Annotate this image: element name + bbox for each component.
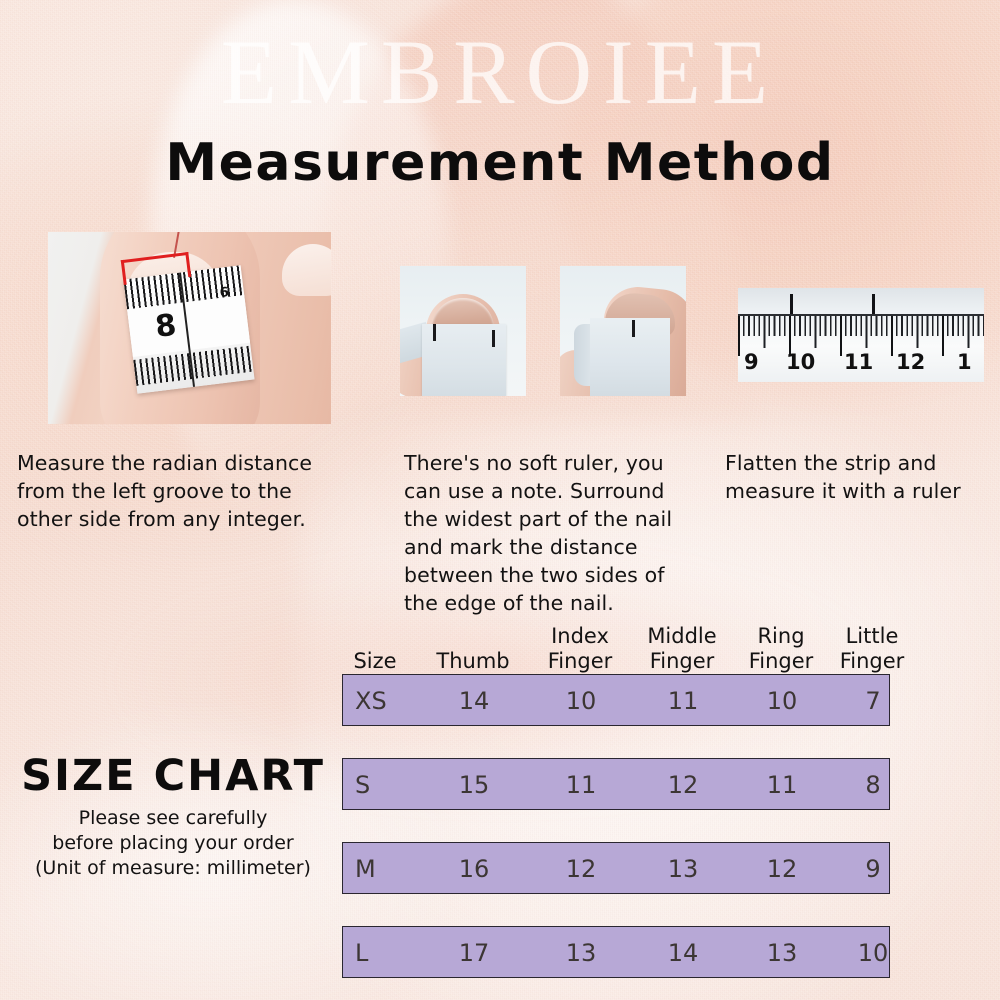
table-header-thumb: Thumb bbox=[418, 649, 528, 674]
table-cell-little: 9 bbox=[825, 843, 921, 895]
table-cell-size: M bbox=[343, 843, 421, 895]
instruction-radian-distance: Measure the radian distance from the lef… bbox=[17, 449, 397, 533]
table-header-ring: Ring Finger bbox=[734, 624, 828, 674]
ruler-label-13: 1 bbox=[957, 350, 972, 374]
table-header-index: Index Finger bbox=[532, 624, 628, 674]
tape-number: 8 bbox=[153, 308, 178, 345]
strip-mark bbox=[632, 320, 635, 337]
table-cell-middle: 14 bbox=[633, 927, 733, 979]
table-cell-ring: 13 bbox=[735, 927, 829, 979]
table-header-middle: Middle Finger bbox=[632, 624, 732, 674]
paper-strip bbox=[590, 318, 670, 396]
photo-ruler-measuring-strip: 9 10 11 12 1 bbox=[738, 288, 984, 382]
page-title: Measurement Method bbox=[0, 137, 1000, 189]
photo-nail-with-paper-strip-front bbox=[400, 266, 526, 396]
strip-mark-right bbox=[492, 330, 495, 347]
table-row: L1713141310 bbox=[342, 926, 890, 978]
instruction-flatten-strip: Flatten the strip and measure it with a … bbox=[725, 449, 995, 505]
table-cell-size: L bbox=[343, 927, 421, 979]
table-cell-index: 10 bbox=[533, 675, 629, 727]
table-cell-ring: 12 bbox=[735, 843, 829, 895]
table-cell-index: 12 bbox=[533, 843, 629, 895]
table-cell-middle: 13 bbox=[633, 843, 733, 895]
table-cell-index: 13 bbox=[533, 927, 629, 979]
table-row: M161213129 bbox=[342, 842, 890, 894]
table-row: S151112118 bbox=[342, 758, 890, 810]
table-cell-little: 8 bbox=[825, 759, 921, 811]
table-cell-thumb: 17 bbox=[419, 927, 529, 979]
table-cell-ring: 10 bbox=[735, 675, 829, 727]
ruler-mark-start bbox=[790, 294, 793, 314]
table-cell-index: 11 bbox=[533, 759, 629, 811]
table-row: XS141011107 bbox=[342, 674, 890, 726]
table-cell-ring: 11 bbox=[735, 759, 829, 811]
table-header-size: Size bbox=[342, 649, 408, 674]
table-cell-middle: 11 bbox=[633, 675, 733, 727]
size-guide-infographic: EMBROIEE Measurement Method 8 6 bbox=[0, 0, 1000, 1000]
table-cell-thumb: 14 bbox=[419, 675, 529, 727]
table-cell-middle: 12 bbox=[633, 759, 733, 811]
instruction-paper-note: There's no soft ruler, you can use a not… bbox=[404, 449, 724, 617]
brand-watermark: EMBROIEE bbox=[0, 26, 1000, 118]
table-header-row: Size Thumb Index Finger Middle Finger Ri… bbox=[342, 612, 890, 674]
table-cell-little: 7 bbox=[825, 675, 921, 727]
table-cell-size: S bbox=[343, 759, 421, 811]
table-header-little: Little Finger bbox=[824, 624, 920, 674]
size-chart-note: Please see carefully before placing your… bbox=[8, 806, 338, 881]
strip-mark-left bbox=[433, 324, 436, 341]
ruler-mark-end bbox=[872, 294, 875, 314]
ruler-label-10: 10 bbox=[786, 350, 815, 374]
size-chart-heading: SIZE CHART bbox=[18, 755, 328, 798]
ruler-tick-labels: 9 10 11 12 1 bbox=[738, 350, 984, 380]
table-cell-little: 10 bbox=[825, 927, 921, 979]
ruler-label-11: 11 bbox=[844, 350, 873, 374]
photo-finger-with-soft-tape: 8 6 bbox=[48, 232, 331, 424]
table-cell-size: XS bbox=[343, 675, 421, 727]
table-cell-thumb: 16 bbox=[419, 843, 529, 895]
photo-nail-with-paper-strip-side bbox=[560, 266, 686, 396]
tape-number-small: 6 bbox=[219, 285, 230, 301]
soft-measuring-tape: 8 6 bbox=[123, 265, 254, 394]
ruler-label-12: 12 bbox=[896, 350, 925, 374]
table-cell-thumb: 15 bbox=[419, 759, 529, 811]
size-chart-table: Size Thumb Index Finger Middle Finger Ri… bbox=[342, 612, 890, 1000]
ruler-label-9: 9 bbox=[744, 350, 759, 374]
